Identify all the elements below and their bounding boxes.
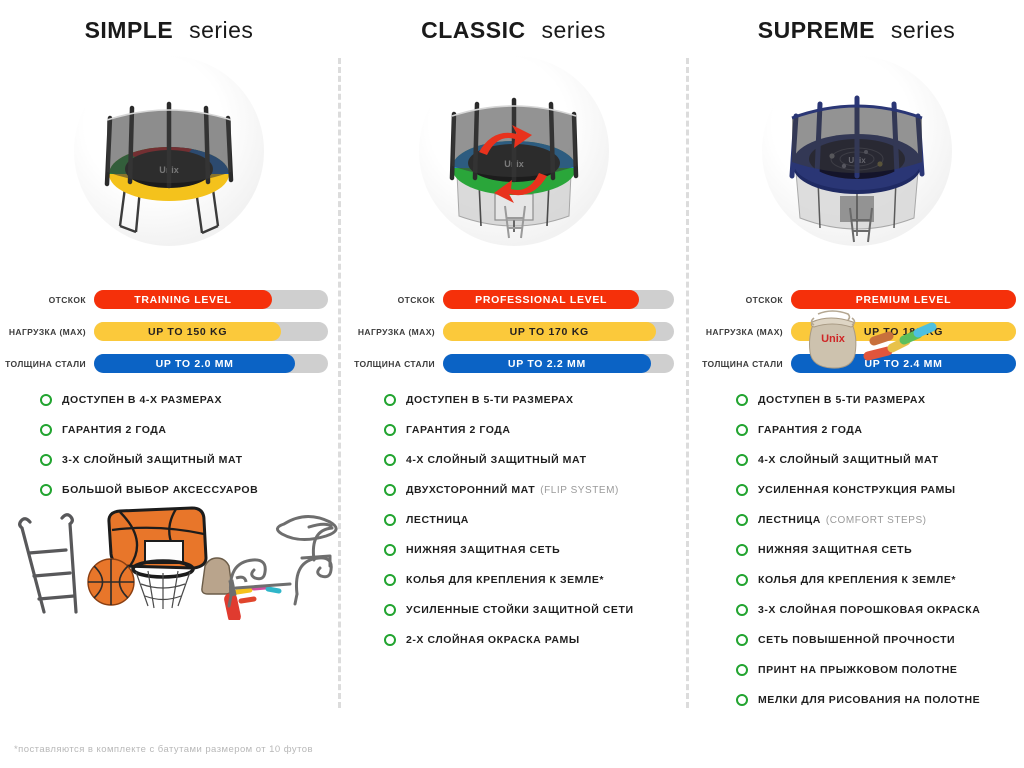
list-item: ПРИНТ НА ПРЫЖКОВОМ ПОЛОТНЕ xyxy=(736,655,1024,685)
check-circle-icon xyxy=(736,454,748,466)
series-word-supreme: series xyxy=(891,17,955,43)
check-circle-icon xyxy=(736,574,748,586)
check-circle-icon xyxy=(736,514,748,526)
feature-label: 4-Х СЛОЙНЫЙ ЗАЩИТНЫЙ МАТ xyxy=(406,454,587,466)
feature-label: ЛЕСТНИЦА xyxy=(406,514,469,526)
series-name-classic: CLASSIC xyxy=(421,17,525,43)
check-circle-icon xyxy=(384,574,396,586)
stat-label: НАГРУЗКА (MAX) xyxy=(0,327,86,337)
stat-track: PROFESSIONAL LEVEL xyxy=(443,290,674,309)
page-title-supreme: SUPREME series xyxy=(689,17,1024,44)
stat-label: ОТСКОК xyxy=(349,295,435,305)
feature-label: СЕТЬ ПОВЫШЕННОЙ ПРОЧНОСТИ xyxy=(758,634,955,646)
check-circle-icon xyxy=(384,604,396,616)
check-circle-icon xyxy=(40,424,52,436)
stat-label: ТОЛЩИНА СТАЛИ xyxy=(349,359,435,369)
feature-label: 3-Х СЛОЙНАЯ ПОРОШКОВАЯ ОКРАСКА xyxy=(758,604,980,616)
stat-bars-simple: ОТСКОКTRAINING LEVELНАГРУЗКА (MAX)UP TO … xyxy=(0,288,338,384)
list-item: 3-Х СЛОЙНАЯ ПОРОШКОВАЯ ОКРАСКА xyxy=(736,595,1024,625)
stat-value: TRAINING LEVEL xyxy=(134,294,231,306)
stat-track: UP TO 170 KG xyxy=(443,322,674,341)
check-circle-icon xyxy=(736,664,748,676)
stat-value: UP TO 150 KG xyxy=(148,326,227,338)
list-item: 2-Х СЛОЙНАЯ ОКРАСКА РАМЫ xyxy=(384,625,686,655)
stat-row: ТОЛЩИНА СТАЛИUP TO 2.0 MM xyxy=(0,352,328,375)
stat-fill: PROFESSIONAL LEVEL xyxy=(443,290,639,309)
list-item: ГАРАНТИЯ 2 ГОДА xyxy=(384,415,686,445)
product-image-simple: Unix xyxy=(74,56,264,246)
stat-label: ТОЛЩИНА СТАЛИ xyxy=(697,359,783,369)
stat-row: ТОЛЩИНА СТАЛИUP TO 2.2 MM xyxy=(349,352,674,375)
comparison-board: SIMPLE series Unix xyxy=(0,0,1024,768)
check-circle-icon xyxy=(384,544,396,556)
series-word-simple: series xyxy=(189,17,253,43)
stat-fill: UP TO 150 KG xyxy=(94,322,281,341)
feature-label: НИЖНЯЯ ЗАЩИТНАЯ СЕТЬ xyxy=(406,544,560,556)
series-column-classic: CLASSIC series Unix xyxy=(341,0,686,768)
series-column-simple: SIMPLE series Unix xyxy=(0,0,338,768)
list-item: УСИЛЕННЫЕ СТОЙКИ ЗАЩИТНОЙ СЕТИ xyxy=(384,595,686,625)
feature-note: (COMFORT STEPS) xyxy=(826,515,927,526)
feature-label: ПРИНТ НА ПРЫЖКОВОМ ПОЛОТНЕ xyxy=(758,664,957,676)
check-circle-icon xyxy=(736,394,748,406)
check-circle-icon xyxy=(384,484,396,496)
feature-list-simple: ДОСТУПЕН В 4-Х РАЗМЕРАХГАРАНТИЯ 2 ГОДА3-… xyxy=(0,385,338,505)
feature-label: БОЛЬШОЙ ВЫБОР АКСЕССУАРОВ xyxy=(62,484,258,496)
list-item: СЕТЬ ПОВЫШЕННОЙ ПРОЧНОСТИ xyxy=(736,625,1024,655)
check-circle-icon xyxy=(384,514,396,526)
check-circle-icon xyxy=(40,454,52,466)
stat-row: НАГРУЗКА (MAX)UP TO 150 KG xyxy=(0,320,328,343)
page-title-classic: CLASSIC series xyxy=(341,17,686,44)
feature-label: ДВУХСТОРОННИЙ МАТ xyxy=(406,484,535,496)
accessories-illustration xyxy=(8,500,338,620)
stat-track: PREMIUM LEVEL xyxy=(791,290,1016,309)
check-circle-icon xyxy=(40,484,52,496)
stat-label: ОТСКОК xyxy=(697,295,783,305)
feature-label: ДОСТУПЕН В 5-ТИ РАЗМЕРАХ xyxy=(758,394,926,406)
stat-row: ОТСКОКPROFESSIONAL LEVEL xyxy=(349,288,674,311)
list-item: ДОСТУПЕН В 5-ТИ РАЗМЕРАХ xyxy=(736,385,1024,415)
stat-bars-classic: ОТСКОКPROFESSIONAL LEVELНАГРУЗКА (MAX)UP… xyxy=(341,288,686,384)
stat-value: PROFESSIONAL LEVEL xyxy=(475,294,607,306)
stat-value: UP TO 2.0 MM xyxy=(156,358,234,370)
feature-label: УСИЛЕННЫЕ СТОЙКИ ЗАЩИТНОЙ СЕТИ xyxy=(406,604,634,616)
feature-label: ЛЕСТНИЦА xyxy=(758,514,821,526)
list-item: КОЛЬЯ ДЛЯ КРЕПЛЕНИЯ К ЗЕМЛЕ* xyxy=(384,565,686,595)
list-item: ЛЕСТНИЦА(COMFORT STEPS) xyxy=(736,505,1024,535)
feature-label: ДОСТУПЕН В 4-Х РАЗМЕРАХ xyxy=(62,394,222,406)
stat-fill: UP TO 2.0 MM xyxy=(94,354,295,373)
stat-label: НАГРУЗКА (MAX) xyxy=(697,327,783,337)
feature-label: ГАРАНТИЯ 2 ГОДА xyxy=(62,424,166,436)
stat-row: ОТСКОКTRAINING LEVEL xyxy=(0,288,328,311)
list-item: ЛЕСТНИЦА xyxy=(384,505,686,535)
feature-label: ГАРАНТИЯ 2 ГОДА xyxy=(406,424,510,436)
trampoline-simple-icon: Unix xyxy=(74,56,264,246)
check-circle-icon xyxy=(736,634,748,646)
stat-fill: UP TO 170 KG xyxy=(443,322,656,341)
stat-value: PREMIUM LEVEL xyxy=(856,294,951,306)
feature-label: НИЖНЯЯ ЗАЩИТНАЯ СЕТЬ xyxy=(758,544,912,556)
stat-track: UP TO 150 KG xyxy=(94,322,328,341)
list-item: КОЛЬЯ ДЛЯ КРЕПЛЕНИЯ К ЗЕМЛЕ* xyxy=(736,565,1024,595)
series-name-supreme: SUPREME xyxy=(758,17,875,43)
check-circle-icon xyxy=(384,454,396,466)
feature-label: КОЛЬЯ ДЛЯ КРЕПЛЕНИЯ К ЗЕМЛЕ* xyxy=(406,574,604,586)
product-image-supreme: Unix xyxy=(762,56,952,246)
series-column-supreme: SUPREME series xyxy=(689,0,1024,768)
footnote: *поставляются в комплекте с батутами раз… xyxy=(14,744,313,755)
list-item: 4-Х СЛОЙНЫЙ ЗАЩИТНЫЙ МАТ xyxy=(384,445,686,475)
stat-label: ОТСКОК xyxy=(0,295,86,305)
feature-label: 3-Х СЛОЙНЫЙ ЗАЩИТНЫЙ МАТ xyxy=(62,454,243,466)
list-item: НИЖНЯЯ ЗАЩИТНАЯ СЕТЬ xyxy=(736,535,1024,565)
stat-fill: TRAINING LEVEL xyxy=(94,290,272,309)
list-item: НИЖНЯЯ ЗАЩИТНАЯ СЕТЬ xyxy=(384,535,686,565)
check-circle-icon xyxy=(384,394,396,406)
list-item: ДОСТУПЕН В 4-Х РАЗМЕРАХ xyxy=(40,385,338,415)
series-name-simple: SIMPLE xyxy=(85,17,174,43)
list-item: ДОСТУПЕН В 5-ТИ РАЗМЕРАХ xyxy=(384,385,686,415)
stat-track: UP TO 2.2 MM xyxy=(443,354,674,373)
feature-label: 2-Х СЛОЙНАЯ ОКРАСКА РАМЫ xyxy=(406,634,580,646)
check-circle-icon xyxy=(736,544,748,556)
feature-label: МЕЛКИ ДЛЯ РИСОВАНИЯ НА ПОЛОТНЕ xyxy=(758,694,980,706)
stat-value: UP TO 170 KG xyxy=(510,326,589,338)
stat-track: TRAINING LEVEL xyxy=(94,290,328,309)
feature-list-supreme: ДОСТУПЕН В 5-ТИ РАЗМЕРАХГАРАНТИЯ 2 ГОДА4… xyxy=(689,385,1024,715)
feature-label: ДОСТУПЕН В 5-ТИ РАЗМЕРАХ xyxy=(406,394,574,406)
check-circle-icon xyxy=(736,424,748,436)
list-item: ГАРАНТИЯ 2 ГОДА xyxy=(40,415,338,445)
chalk-bag-illustration: Unix xyxy=(784,308,949,370)
trampoline-supreme-icon: Unix xyxy=(762,56,952,246)
check-circle-icon xyxy=(736,484,748,496)
svg-text:Unix: Unix xyxy=(821,333,846,345)
check-circle-icon xyxy=(384,424,396,436)
trampoline-classic-icon: Unix xyxy=(419,56,609,246)
stat-row: НАГРУЗКА (MAX)UP TO 170 KG xyxy=(349,320,674,343)
list-item: ДВУХСТОРОННИЙ МАТ(FLIP SYSTEM) xyxy=(384,475,686,505)
feature-label: 4-Х СЛОЙНЫЙ ЗАЩИТНЫЙ МАТ xyxy=(758,454,939,466)
stat-fill: UP TO 2.2 MM xyxy=(443,354,651,373)
feature-list-classic: ДОСТУПЕН В 5-ТИ РАЗМЕРАХГАРАНТИЯ 2 ГОДА4… xyxy=(341,385,686,655)
list-item: УСИЛЕННАЯ КОНСТРУКЦИЯ РАМЫ xyxy=(736,475,1024,505)
feature-label: УСИЛЕННАЯ КОНСТРУКЦИЯ РАМЫ xyxy=(758,484,956,496)
product-image-classic: Unix xyxy=(419,56,609,246)
feature-label: ГАРАНТИЯ 2 ГОДА xyxy=(758,424,862,436)
check-circle-icon xyxy=(736,604,748,616)
list-item: ГАРАНТИЯ 2 ГОДА xyxy=(736,415,1024,445)
feature-note: (FLIP SYSTEM) xyxy=(540,485,619,496)
stat-fill: PREMIUM LEVEL xyxy=(791,290,1016,309)
check-circle-icon xyxy=(736,694,748,706)
check-circle-icon xyxy=(40,394,52,406)
stat-label: НАГРУЗКА (MAX) xyxy=(349,327,435,337)
stat-value: UP TO 2.2 MM xyxy=(508,358,586,370)
stat-label: ТОЛЩИНА СТАЛИ xyxy=(0,359,86,369)
series-word-classic: series xyxy=(541,17,605,43)
list-item: МЕЛКИ ДЛЯ РИСОВАНИЯ НА ПОЛОТНЕ xyxy=(736,685,1024,715)
stat-track: UP TO 2.0 MM xyxy=(94,354,328,373)
feature-label: КОЛЬЯ ДЛЯ КРЕПЛЕНИЯ К ЗЕМЛЕ* xyxy=(758,574,956,586)
check-circle-icon xyxy=(384,634,396,646)
list-item: 4-Х СЛОЙНЫЙ ЗАЩИТНЫЙ МАТ xyxy=(736,445,1024,475)
list-item: 3-Х СЛОЙНЫЙ ЗАЩИТНЫЙ МАТ xyxy=(40,445,338,475)
page-title-simple: SIMPLE series xyxy=(0,17,338,44)
